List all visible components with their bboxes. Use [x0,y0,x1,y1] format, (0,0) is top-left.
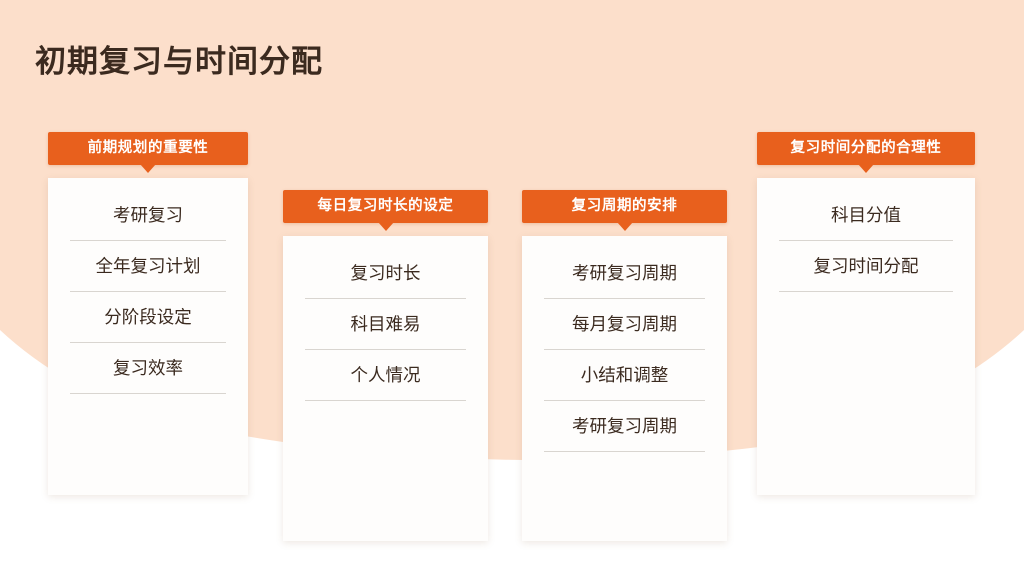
slide-canvas: 初期复习与时间分配 前期规划的重要性 考研复习 全年复习计划 分阶段设定 复习效… [0,0,1024,576]
list-item[interactable]: 复习效率 [70,343,226,394]
list-item[interactable]: 小结和调整 [544,350,705,401]
list-item[interactable]: 分阶段设定 [70,292,226,343]
page-title: 初期复习与时间分配 [35,36,323,81]
card-body-planning-importance: 考研复习 全年复习计划 分阶段设定 复习效率 [48,178,248,495]
header-pointer-icon [378,222,394,231]
card-review-cycle: 复习周期的安排 考研复习周期 每月复习周期 小结和调整 考研复习周期 [522,190,727,541]
card-time-allocation: 复习时间分配的合理性 科目分值 复习时间分配 [757,132,975,495]
card-body-review-cycle: 考研复习周期 每月复习周期 小结和调整 考研复习周期 [522,236,727,541]
list-item[interactable]: 复习时间分配 [779,241,953,292]
card-header-label: 复习时间分配的合理性 [791,140,942,156]
card-header-daily-duration[interactable]: 每日复习时长的设定 [283,190,488,223]
list-item[interactable]: 科目难易 [305,299,466,350]
card-header-planning-importance[interactable]: 前期规划的重要性 [48,132,248,165]
list-item[interactable]: 考研复习周期 [544,401,705,452]
card-header-label: 每日复习时长的设定 [318,198,454,214]
list-item[interactable]: 考研复习 [70,190,226,241]
card-header-label: 前期规划的重要性 [88,140,209,156]
card-header-time-allocation[interactable]: 复习时间分配的合理性 [757,132,975,165]
header-pointer-icon [858,164,874,173]
header-pointer-icon [140,164,156,173]
card-header-label: 复习周期的安排 [572,198,678,214]
list-item[interactable]: 复习时长 [305,248,466,299]
list-item[interactable]: 考研复习周期 [544,248,705,299]
card-planning-importance: 前期规划的重要性 考研复习 全年复习计划 分阶段设定 复习效率 [48,132,248,495]
card-body-daily-duration: 复习时长 科目难易 个人情况 [283,236,488,541]
list-item[interactable]: 每月复习周期 [544,299,705,350]
card-daily-duration: 每日复习时长的设定 复习时长 科目难易 个人情况 [283,190,488,541]
list-item[interactable]: 个人情况 [305,350,466,401]
card-body-time-allocation: 科目分值 复习时间分配 [757,178,975,495]
list-item[interactable]: 全年复习计划 [70,241,226,292]
header-pointer-icon [617,222,633,231]
list-item[interactable]: 科目分值 [779,190,953,241]
card-header-review-cycle[interactable]: 复习周期的安排 [522,190,727,223]
